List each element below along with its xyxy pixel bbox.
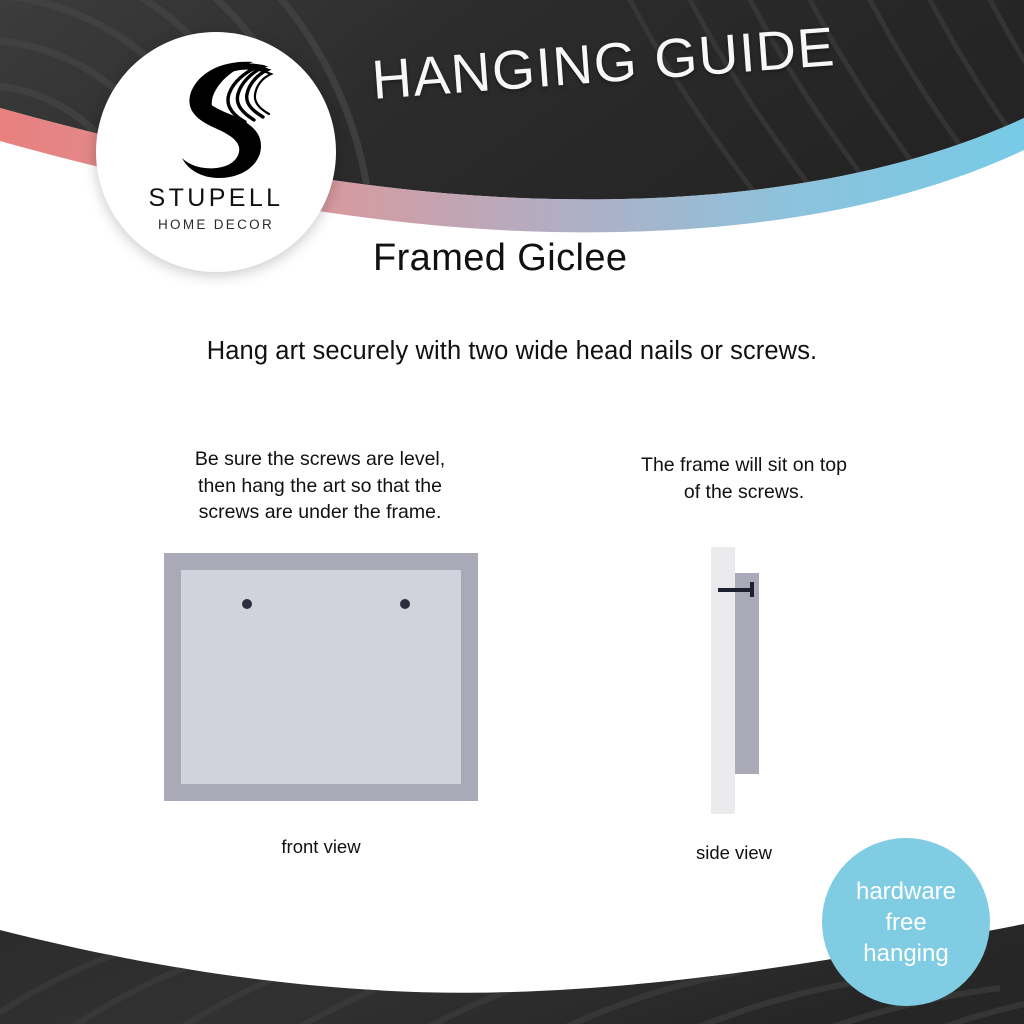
front-view-caption-line-3: screws are under the frame. bbox=[152, 499, 488, 526]
product-type-title: Framed Giclee bbox=[373, 237, 627, 280]
page-title: HANGING GUIDE bbox=[370, 10, 893, 112]
front-view-caption-line-1: Be sure the screws are level, bbox=[152, 446, 488, 473]
brand-logo-badge: STUPELL HOME DECOR bbox=[96, 32, 336, 272]
badge-line-1: hardware bbox=[856, 876, 956, 907]
hardware-free-hanging-badge: hardware free hanging bbox=[822, 838, 990, 1006]
badge-line-3: hanging bbox=[863, 938, 948, 969]
front-view-label: front view bbox=[164, 836, 478, 858]
side-view-nail-head bbox=[750, 582, 754, 597]
hanging-guide-infographic: STUPELL HOME DECOR HANGING GUIDE Framed … bbox=[0, 0, 1024, 1024]
side-view-caption-line-2: of the screws. bbox=[596, 479, 892, 506]
side-view-caption: The frame will sit on top of the screws. bbox=[596, 452, 892, 505]
stupell-swoosh-icon bbox=[157, 58, 275, 182]
front-view-caption: Be sure the screws are level, then hang … bbox=[152, 446, 488, 526]
screw-dot-right bbox=[400, 599, 410, 609]
side-view-label: side view bbox=[660, 842, 808, 864]
side-view-frame bbox=[735, 573, 759, 774]
side-view-nail-shaft bbox=[718, 588, 753, 592]
front-view-diagram bbox=[164, 553, 478, 801]
front-view-art-panel bbox=[181, 570, 461, 784]
main-instruction-text: Hang art securely with two wide head nai… bbox=[0, 337, 1024, 366]
front-view-caption-line-2: then hang the art so that the bbox=[152, 473, 488, 500]
screw-dot-left bbox=[242, 599, 252, 609]
logo-wordmark: STUPELL bbox=[149, 186, 284, 211]
badge-line-2: free bbox=[885, 907, 926, 938]
side-view-caption-line-1: The frame will sit on top bbox=[596, 452, 892, 479]
logo-tagline: HOME DECOR bbox=[158, 218, 274, 232]
